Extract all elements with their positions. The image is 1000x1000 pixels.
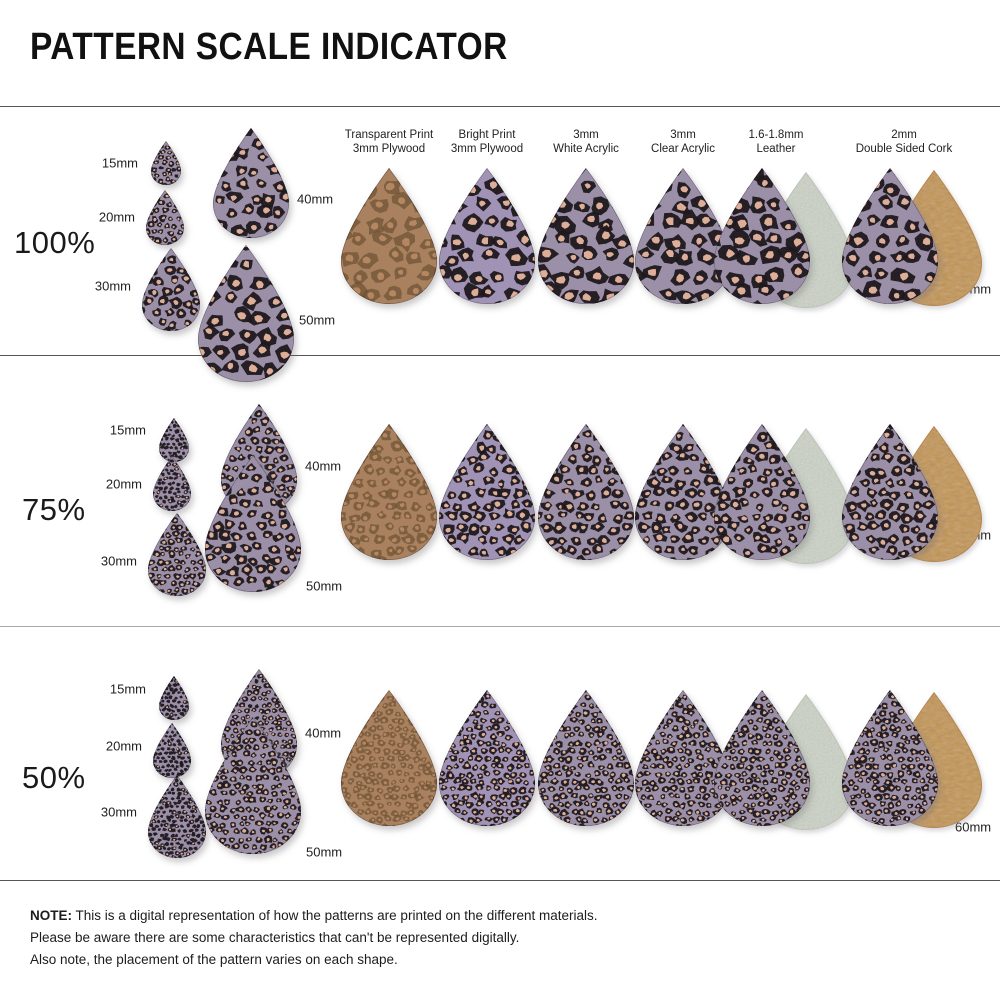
size-caption-30mm: 30mm <box>95 279 131 294</box>
teardrop-20mm <box>146 190 194 255</box>
teardrop-50mm <box>205 717 311 864</box>
material-teardrop-white-acrylic <box>538 690 644 836</box>
material-teardrop-double-sided-cork <box>842 168 948 314</box>
teardrop-50mm <box>198 245 304 392</box>
size-caption-30mm: 30mm <box>101 805 137 820</box>
column-header-line-1: Bright Print <box>451 128 523 142</box>
material-teardrop-white-acrylic <box>538 168 644 314</box>
teardrop-20mm <box>153 456 201 521</box>
column-header-line-1: 2mm <box>856 128 953 142</box>
note-line-1: This is a digital representation of how … <box>72 908 598 923</box>
size-caption-30mm: 30mm <box>101 554 137 569</box>
column-header-line-1: 3mm <box>651 128 715 142</box>
material-teardrop-white-acrylic <box>538 424 644 570</box>
column-header-line-2: Double Sided Cork <box>856 142 953 156</box>
scale-label-scale-50: 50% <box>22 760 86 796</box>
note-line-2: Please be aware there are some character… <box>30 927 598 949</box>
size-caption-20mm: 20mm <box>99 210 135 225</box>
divider-rule-2 <box>0 355 1000 356</box>
material-teardrop-double-sided-cork <box>842 690 948 836</box>
column-header-transparent-print-plywood: Transparent Print3mm Plywood <box>345 128 433 156</box>
size-caption-40mm: 40mm <box>297 192 333 207</box>
column-header-clear-acrylic: 3mmClear Acrylic <box>651 128 715 156</box>
size-caption-15mm: 15mm <box>110 682 146 697</box>
column-header-leather: 1.6-1.8mmLeather <box>749 128 804 156</box>
material-teardrop-double-sided-cork <box>842 424 948 570</box>
scale-label-scale-100: 100% <box>14 225 95 261</box>
material-teardrop-leather <box>714 424 820 570</box>
material-teardrop-bright-print-plywood <box>439 690 545 836</box>
footer-note: NOTE: This is a digital representation o… <box>30 905 598 971</box>
column-header-line-2: White Acrylic <box>553 142 619 156</box>
size-caption-50mm: 50mm <box>306 579 342 594</box>
material-teardrop-leather <box>714 168 820 314</box>
size-caption-50mm: 50mm <box>299 313 335 328</box>
material-teardrop-bright-print-plywood <box>439 424 545 570</box>
column-header-line-2: 3mm Plywood <box>345 142 433 156</box>
note-line-3: Also note, the placement of the pattern … <box>30 949 598 971</box>
divider-rule-1 <box>0 106 1000 107</box>
note-lead: NOTE: <box>30 908 72 923</box>
material-teardrop-transparent-print-plywood <box>341 690 447 836</box>
pattern-scale-indicator-sheet: PATTERN SCALE INDICATOR Transparent Prin… <box>0 0 1000 1000</box>
column-header-white-acrylic: 3mmWhite Acrylic <box>553 128 619 156</box>
column-header-line-2: Clear Acrylic <box>651 142 715 156</box>
teardrop-40mm <box>213 128 299 248</box>
size-caption-15mm: 15mm <box>102 156 138 171</box>
size-caption-15mm: 15mm <box>110 423 146 438</box>
column-header-bright-print-plywood: Bright Print3mm Plywood <box>451 128 523 156</box>
size-caption-50mm: 50mm <box>306 845 342 860</box>
size-caption-20mm: 20mm <box>106 477 142 492</box>
material-teardrop-leather <box>714 690 820 836</box>
material-teardrop-bright-print-plywood <box>439 168 545 314</box>
column-header-line-1: 1.6-1.8mm <box>749 128 804 142</box>
column-header-line-2: Leather <box>749 142 804 156</box>
teardrop-15mm <box>159 676 199 730</box>
size-caption-20mm: 20mm <box>106 739 142 754</box>
column-header-line-1: 3mm <box>553 128 619 142</box>
material-teardrop-transparent-print-plywood <box>341 168 447 314</box>
scale-label-scale-75: 75% <box>22 492 86 528</box>
column-header-line-2: 3mm Plywood <box>451 142 523 156</box>
column-header-double-sided-cork: 2mmDouble Sided Cork <box>856 128 953 156</box>
page-title: PATTERN SCALE INDICATOR <box>30 26 508 69</box>
divider-rule-3 <box>0 626 1000 627</box>
divider-rule-4 <box>0 880 1000 881</box>
teardrop-50mm <box>205 455 311 602</box>
teardrop-15mm <box>151 141 191 195</box>
column-header-line-1: Transparent Print <box>345 128 433 142</box>
material-teardrop-transparent-print-plywood <box>341 424 447 570</box>
